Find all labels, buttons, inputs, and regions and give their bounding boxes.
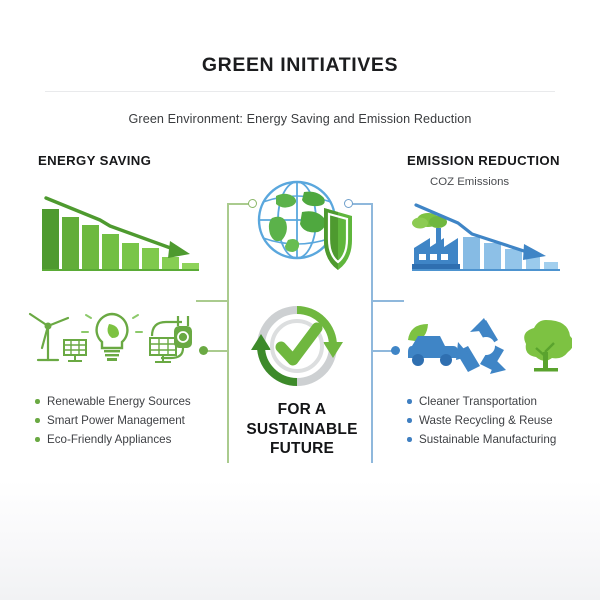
connector-globe-right <box>350 203 373 205</box>
section-heading-emission-reduction: EMISSION REDUCTION <box>407 153 560 168</box>
connector-vertical-right <box>371 203 373 463</box>
section-heading-energy-saving: ENERGY SAVING <box>38 153 151 168</box>
lightbulb-leaf-icon <box>82 308 142 361</box>
list-item-label: Renewable Energy Sources <box>47 395 191 408</box>
list-item-label: Cleaner Transportation <box>419 395 537 408</box>
wind-turbine-solar-panel-icon <box>30 314 68 360</box>
shield-icon <box>324 208 352 270</box>
factory-icon <box>412 228 460 269</box>
list-item-label: Waste Recycling & Reuse <box>419 414 553 427</box>
card-shadow <box>0 480 600 600</box>
connector-vertical-left <box>227 203 229 463</box>
bullet-dot-icon <box>407 418 412 423</box>
node-icons-right <box>391 346 400 355</box>
energy-saving-icon-row <box>22 308 200 370</box>
factory-descending-blue-bar-chart <box>406 202 571 280</box>
center-statement: FOR A SUSTAINABLE FUTURE <box>238 400 366 459</box>
list-item: Cleaner Transportation <box>405 392 556 411</box>
eco-car-icon <box>408 324 458 366</box>
title-divider <box>45 91 555 92</box>
center-statement-line-3: FUTURE <box>238 439 366 459</box>
emission-subheading: COZ Emissions <box>430 176 509 188</box>
bullet-dot-icon <box>407 399 412 404</box>
circular-arrows-checkmark-icon <box>243 302 351 390</box>
bullet-list-emission-reduction: Cleaner Transportation Waste Recycling &… <box>405 392 556 449</box>
center-statement-line-1: FOR A <box>238 400 366 420</box>
list-item-label: Sustainable Manufacturing <box>419 433 556 446</box>
list-item: Smart Power Management <box>33 411 191 430</box>
globe-shield-icon <box>252 178 358 276</box>
page-title: GREEN INITIATIVES <box>0 54 600 77</box>
list-item: Waste Recycling & Reuse <box>405 411 556 430</box>
infographic-card: GREEN INITIATIVES Green Environment: Ene… <box>0 0 600 600</box>
page-subtitle: Green Environment: Energy Saving and Emi… <box>0 112 600 126</box>
emission-reduction-icon-row <box>400 316 572 374</box>
solar-panel-plug-icon <box>150 316 192 362</box>
connector-chart-left <box>196 300 229 302</box>
list-item-label: Smart Power Management <box>47 414 185 427</box>
list-item: Renewable Energy Sources <box>33 392 191 411</box>
list-item-label: Eco-Friendly Appliances <box>47 433 171 446</box>
node-globe-left <box>248 199 257 208</box>
solar-panel-small-icon <box>64 340 86 361</box>
globe-icon <box>259 182 335 258</box>
recycling-symbol-icon <box>456 318 506 374</box>
bullet-dot-icon <box>35 437 40 442</box>
tree-icon <box>524 320 572 372</box>
connector-chart-right <box>371 300 404 302</box>
bullet-dot-icon <box>35 418 40 423</box>
node-icons-left <box>199 346 208 355</box>
descending-green-bar-chart <box>38 196 213 278</box>
bullet-list-energy-saving: Renewable Energy Sources Smart Power Man… <box>33 392 191 449</box>
center-statement-line-2: SUSTAINABLE <box>238 420 366 440</box>
node-globe-right <box>344 199 353 208</box>
bullet-dot-icon <box>35 399 40 404</box>
list-item: Sustainable Manufacturing <box>405 430 556 449</box>
bullet-dot-icon <box>407 437 412 442</box>
list-item: Eco-Friendly Appliances <box>33 430 191 449</box>
